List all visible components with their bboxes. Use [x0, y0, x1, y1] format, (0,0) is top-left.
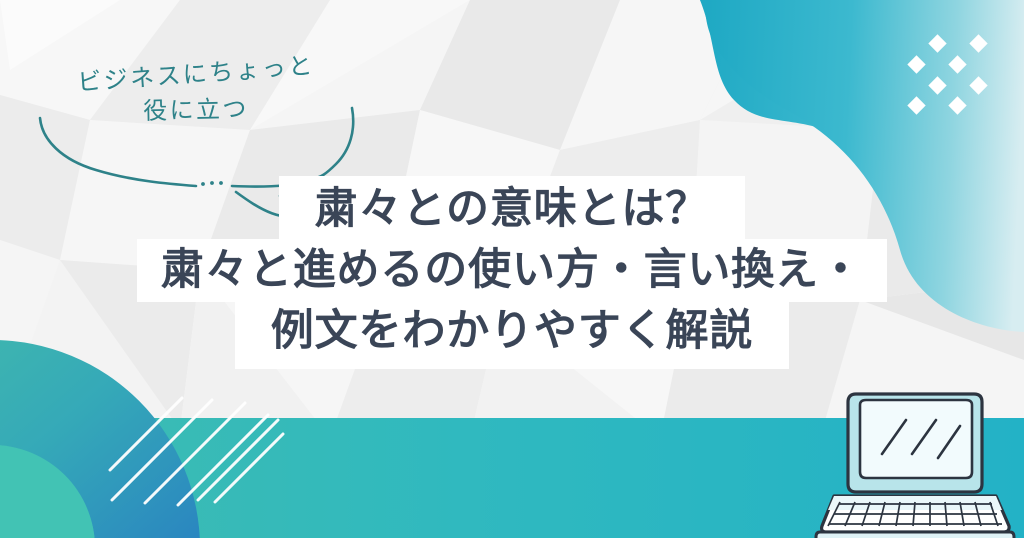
laptop-illustration	[0, 0, 1024, 538]
poster-canvas: ビジネスにちょっと 役に立つ 粛々との意味とは？ 粛々と進めるの使い方・言い換え…	[0, 0, 1024, 538]
